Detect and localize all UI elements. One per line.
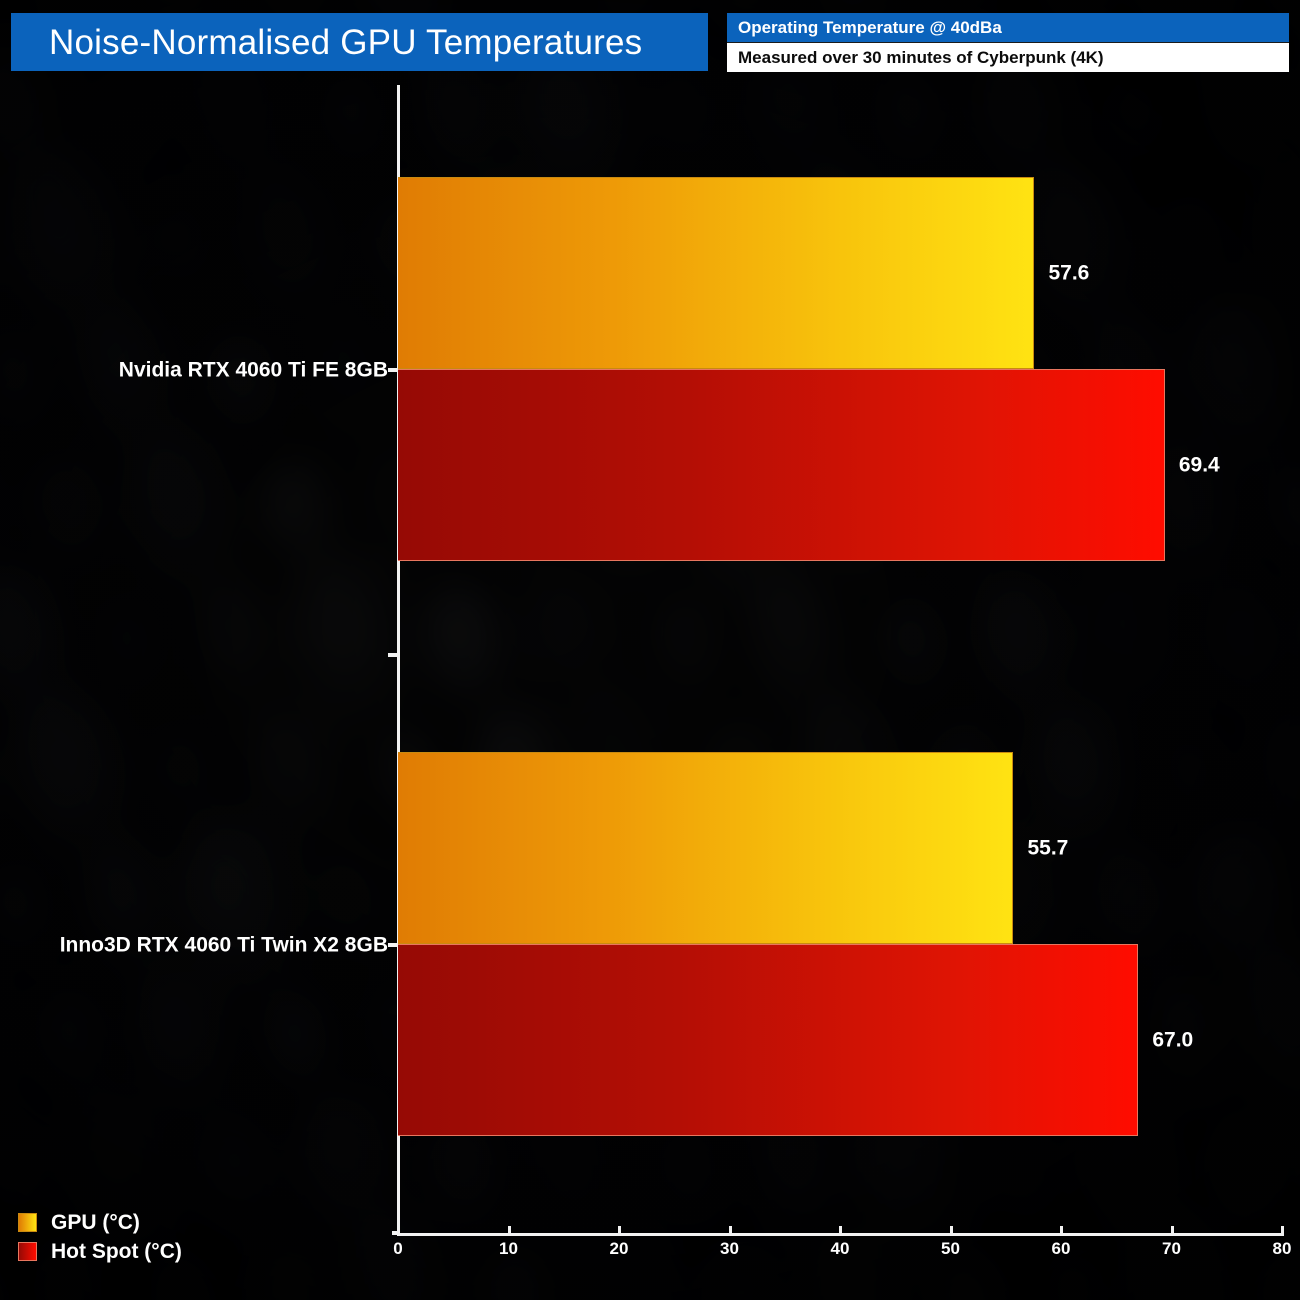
x-tick-label: 30 — [720, 1240, 739, 1257]
x-tick-mark — [1171, 1226, 1174, 1236]
x-tick-label: 50 — [941, 1240, 960, 1257]
x-tick-label: 40 — [831, 1240, 850, 1257]
legend-label-hot-spot: Hot Spot (°C) — [51, 1241, 182, 1262]
bar-hot — [398, 369, 1165, 561]
x-tick-label: 0 — [393, 1240, 402, 1257]
category-label: Nvidia RTX 4060 Ti FE 8GB — [119, 360, 388, 381]
bar-value-label: 57.6 — [1048, 263, 1089, 284]
bar-gpu — [398, 752, 1013, 944]
y-tick-mark — [388, 653, 399, 657]
bar-value-label: 69.4 — [1179, 455, 1220, 476]
x-tick-mark — [839, 1226, 842, 1236]
x-tick-mark — [618, 1226, 621, 1236]
x-tick-label: 60 — [1052, 1240, 1071, 1257]
x-tick-mark — [508, 1226, 511, 1236]
x-tick-label: 20 — [610, 1240, 629, 1257]
x-tick-label: 10 — [499, 1240, 518, 1257]
legend-item-gpu: GPU (°C) — [18, 1208, 182, 1237]
bar-hot — [398, 944, 1138, 1136]
x-tick-mark — [1281, 1226, 1284, 1236]
legend-swatch-hot-spot-icon — [18, 1242, 37, 1261]
bar-value-label: 67.0 — [1152, 1030, 1193, 1051]
x-tick-mark — [950, 1226, 953, 1236]
legend-swatch-gpu-icon — [18, 1213, 37, 1232]
legend-label-gpu: GPU (°C) — [51, 1212, 140, 1233]
bar-value-label: 55.7 — [1027, 838, 1068, 859]
x-tick-mark — [729, 1226, 732, 1236]
category-label: Inno3D RTX 4060 Ti Twin X2 8GB — [60, 935, 388, 956]
y-tick-mark — [392, 1231, 399, 1235]
x-tick-mark — [1060, 1226, 1063, 1236]
x-tick-label: 80 — [1273, 1240, 1292, 1257]
bar-gpu — [398, 177, 1034, 369]
legend-item-hot-spot: Hot Spot (°C) — [18, 1237, 182, 1266]
x-tick-label: 70 — [1162, 1240, 1181, 1257]
chart-legend: GPU (°C) Hot Spot (°C) — [18, 1208, 182, 1266]
chart-plot-area: 01020304050607080 57.669.455.767.0 Nvidi… — [0, 0, 1300, 1300]
